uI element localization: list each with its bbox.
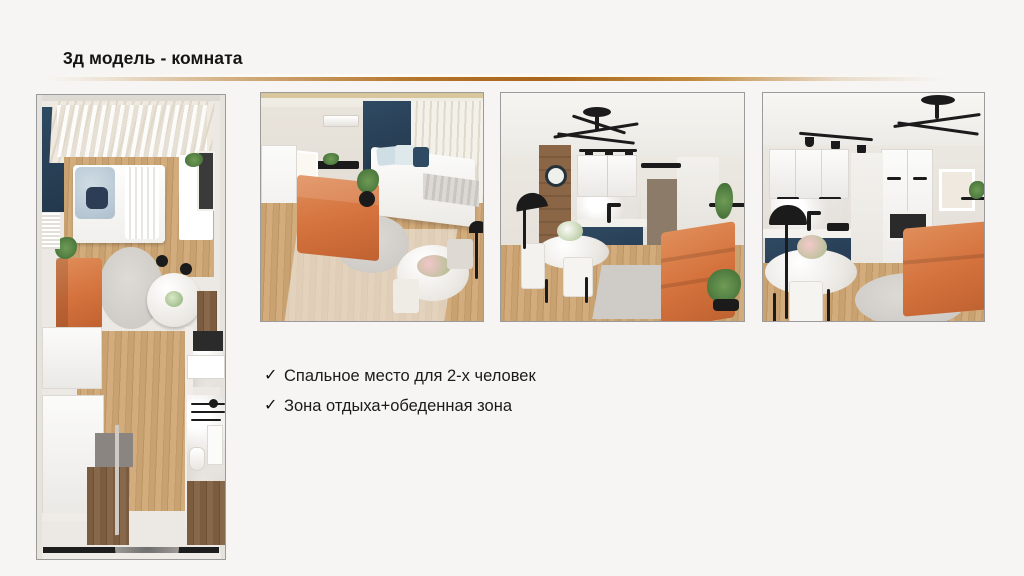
render-4-content [763,93,984,321]
render-3-content [501,93,744,321]
floor-plan-render [37,95,225,559]
title-divider [48,77,943,81]
bullet-text: Зона отдыха+обеденная зона [284,394,512,418]
check-icon: ✓ [264,364,284,388]
bullet-text: Спальное место для 2-х человек [284,364,536,388]
slide-canvas: 3д модель - комната [0,0,1024,576]
floor-plan-image[interactable] [36,94,226,560]
list-item: ✓ Зона отдыха+обеденная зона [264,394,536,418]
render-2-content [261,93,483,321]
check-icon: ✓ [264,394,284,418]
bullet-list: ✓ Спальное место для 2-х человек ✓ Зона … [264,364,536,424]
list-item: ✓ Спальное место для 2-х человек [264,364,536,388]
interior-render-living-sleeping[interactable] [260,92,484,322]
interior-render-kitchen-sofa[interactable] [762,92,985,322]
interior-render-kitchen-dining[interactable] [500,92,745,322]
page-title: 3д модель - комната [63,48,243,69]
